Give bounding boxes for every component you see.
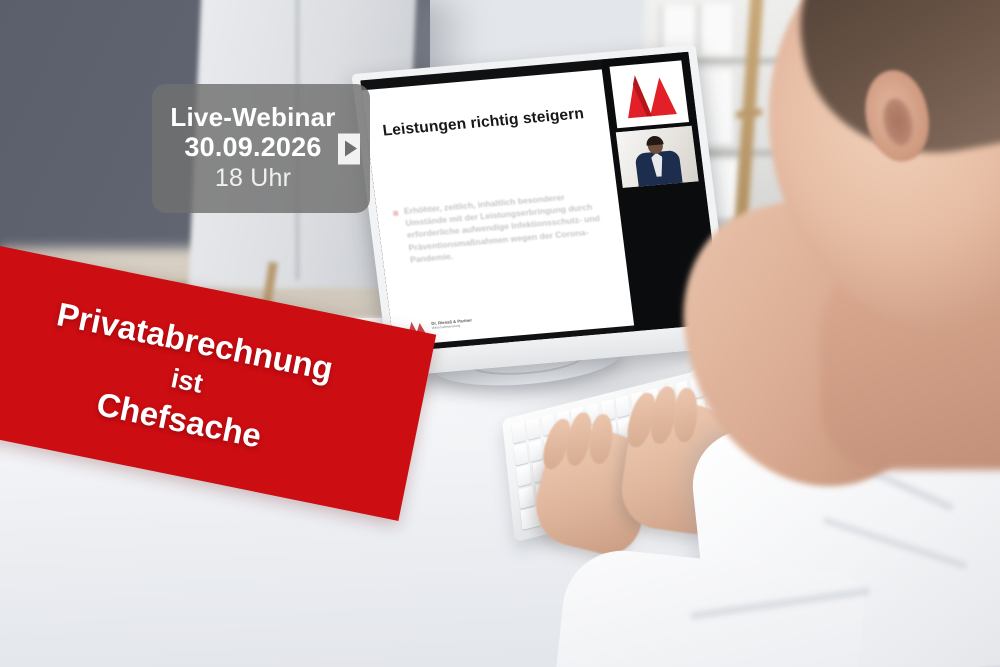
slide-bullet-item: Erhöhter, zeitlich, inhaltlich besondere…: [392, 188, 609, 267]
badge-time: 18 Uhr: [215, 163, 291, 193]
slide-title: Leistungen richtig steigern: [382, 103, 614, 141]
slide-footer-logo-text: Dr. Rienaß & Partner Wirtschaftsberatung: [431, 317, 473, 330]
ribbon-line-2: ist: [168, 362, 205, 400]
play-button[interactable]: [338, 133, 360, 164]
badge-date: 30.09.2026: [184, 132, 321, 163]
company-logo-tile[interactable]: [610, 60, 690, 128]
play-triangle-icon: [345, 141, 357, 157]
monitor-screen: Leistungen richtig steigern Erhöhter, ze…: [360, 52, 722, 353]
bullet-dot-icon: [393, 211, 399, 216]
live-webinar-badge[interactable]: Live-Webinar 30.09.2026 18 Uhr: [152, 84, 370, 213]
badge-title: Live-Webinar: [170, 102, 335, 132]
slide-bullet-text: Erhöhter, zeitlich, inhaltlich besondere…: [403, 188, 609, 266]
presenter-webcam-tile[interactable]: [616, 126, 699, 188]
promo-image-stage: Leistungen richtig steigern Erhöhter, ze…: [0, 0, 1000, 667]
computer-monitor: Leistungen richtig steigern Erhöhter, ze…: [351, 44, 733, 377]
binder: [698, 4, 732, 54]
company-m-logo-icon: [617, 67, 681, 122]
